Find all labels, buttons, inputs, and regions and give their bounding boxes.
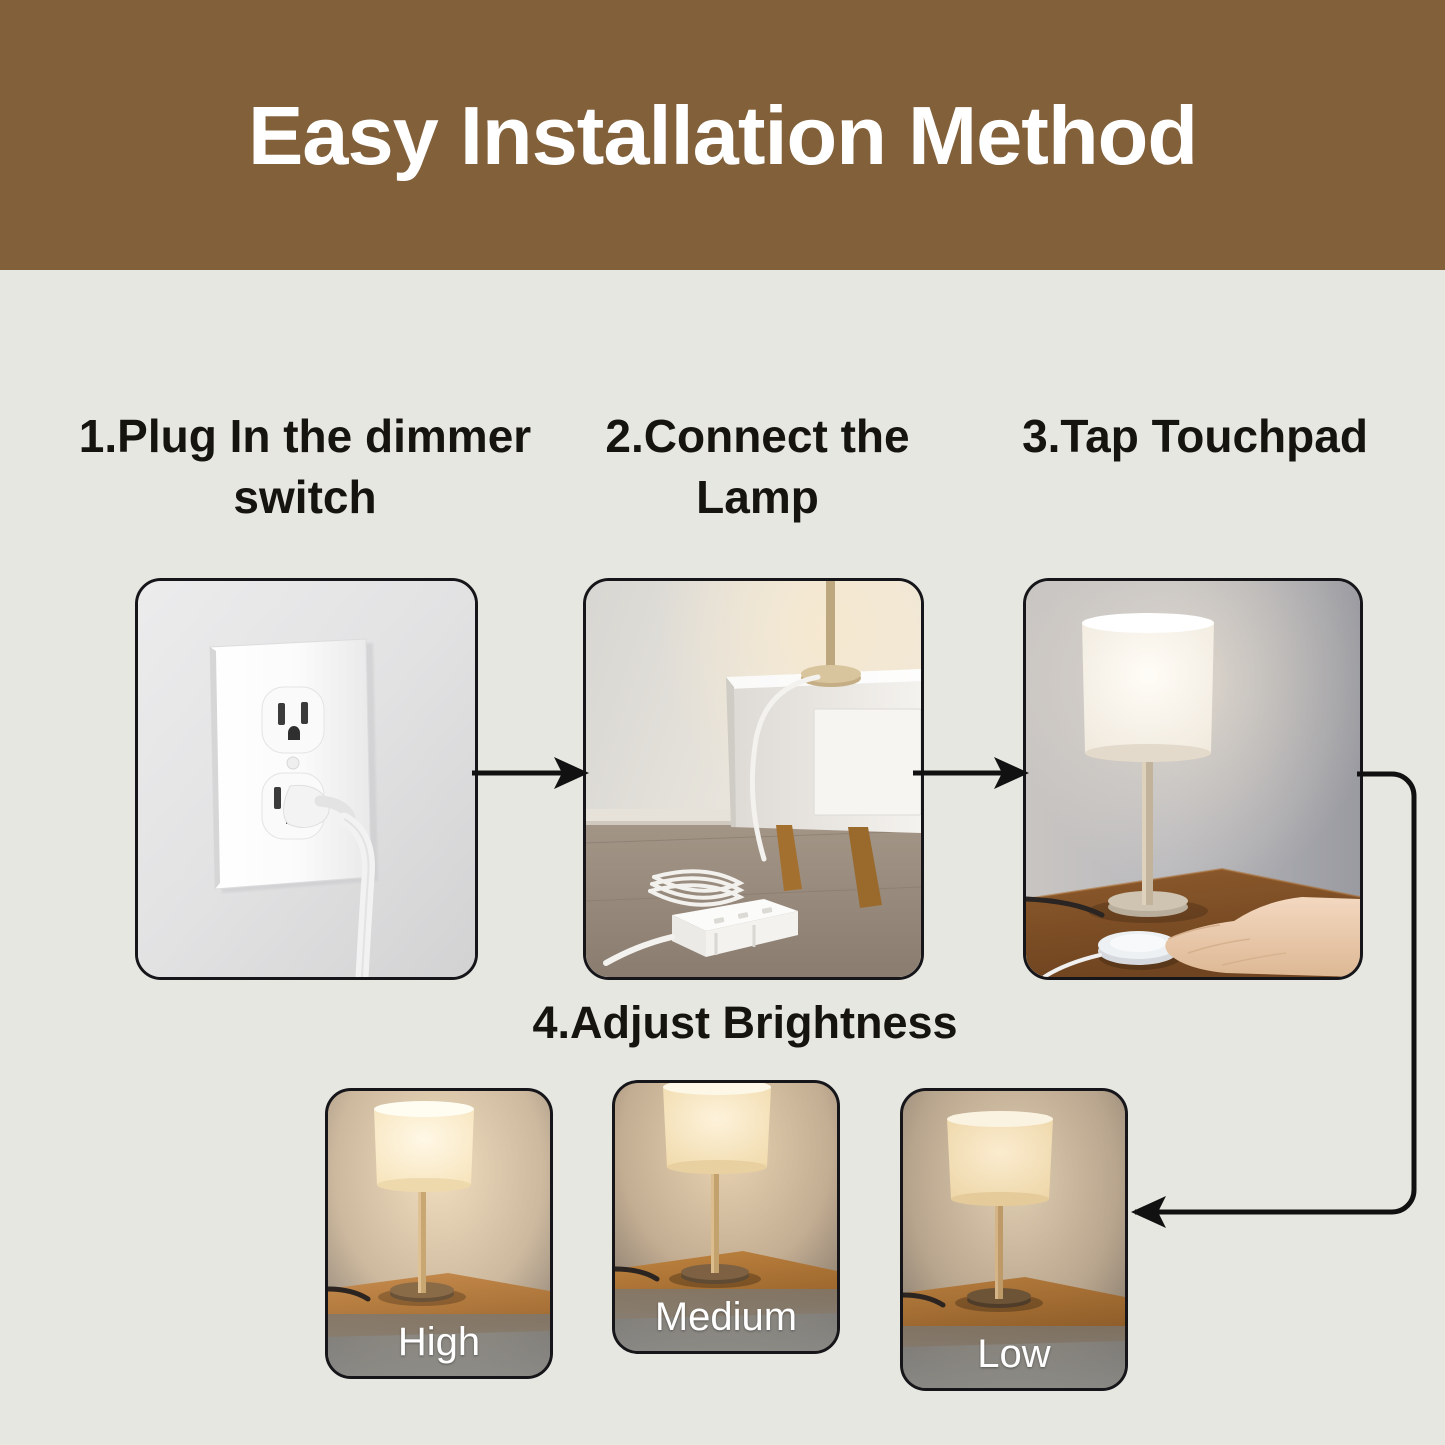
brightness-caption-high: High [328, 1314, 550, 1376]
brightness-thumbnail-low: Low [900, 1088, 1128, 1391]
brightness-thumbnail-medium: Medium [612, 1080, 840, 1354]
brightness-thumbnail-high: High [325, 1088, 553, 1379]
tap-touchpad-photo [1026, 581, 1360, 977]
page-title: Easy Installation Method [248, 94, 1197, 177]
header-banner: Easy Installation Method [0, 0, 1445, 270]
brightness-caption-low: Low [903, 1326, 1125, 1388]
step-1-label: 1.Plug In the dimmer switch [45, 406, 565, 527]
step-1-image-card [135, 578, 478, 980]
step-3-label: 3.Tap Touchpad [1000, 406, 1390, 467]
step-2-label: 2.Connect the Lamp [585, 406, 930, 527]
step-3-image-card [1023, 578, 1363, 980]
brightness-caption-medium: Medium [615, 1289, 837, 1351]
step-4-label: 4.Adjust Brightness [420, 993, 1070, 1052]
wall-outlet-photo [138, 581, 475, 977]
nightstand-power-strip-photo [586, 581, 921, 977]
step-2-image-card [583, 578, 924, 980]
